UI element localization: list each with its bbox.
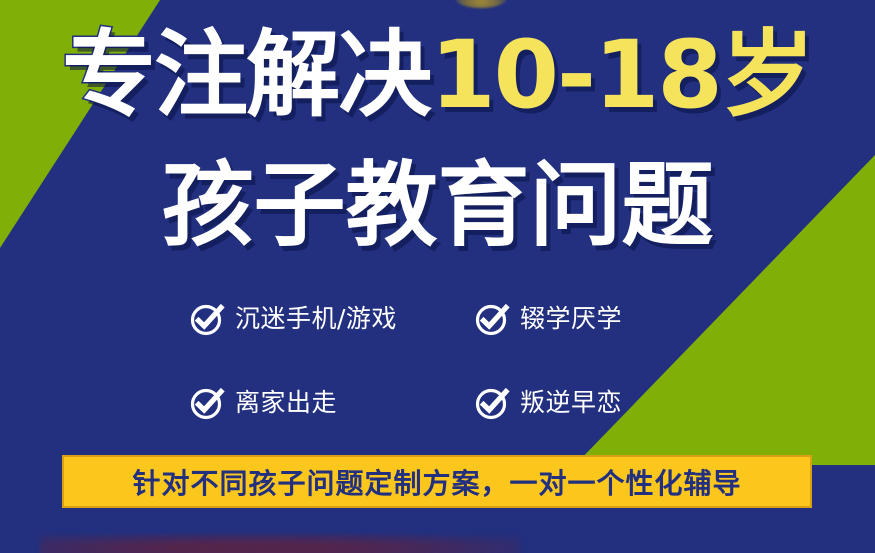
- checklist-item-dropout-school-aversion[interactable]: 辍学厌学: [475, 302, 690, 336]
- checklist-item-label: 叛逆早恋: [520, 388, 622, 418]
- checklist-item-running-away[interactable]: 离家出走: [190, 386, 475, 420]
- cta-banner[interactable]: 针对不同孩子问题定制方案，一对一个性化辅导: [62, 455, 812, 508]
- headline-line-1: 专注解决10-18岁: [0, 22, 875, 130]
- checklist-item-rebellion-early-romance[interactable]: 叛逆早恋: [475, 386, 690, 420]
- checklist-row: 离家出走 叛逆早恋: [190, 372, 690, 434]
- checklist-item-label: 辍学厌学: [520, 304, 622, 334]
- checklist-item-phone-game-addiction[interactable]: 沉迷手机/游戏: [190, 302, 475, 336]
- check-circle-icon: [475, 302, 509, 336]
- checklist-row: 沉迷手机/游戏 辍学厌学: [190, 288, 690, 350]
- check-circle-icon: [475, 386, 509, 420]
- cta-banner-text: 针对不同孩子问题定制方案，一对一个性化辅导: [132, 462, 741, 502]
- decorative-top-nub: [455, 0, 507, 8]
- check-circle-icon: [190, 386, 224, 420]
- promo-poster: 专注解决10-18岁 孩子教育问题 沉迷手机/游戏: [0, 0, 875, 553]
- headline-line-1-age-range: 10-18岁: [430, 21, 813, 130]
- decorative-bottom-smudge: [40, 535, 520, 553]
- problem-checklist: 沉迷手机/游戏 辍学厌学: [190, 288, 690, 434]
- headline-line-1-cn: 专注解决: [62, 21, 430, 130]
- headline-line-2: 孩子教育问题: [0, 152, 875, 260]
- checklist-item-label: 沉迷手机/游戏: [235, 304, 397, 334]
- check-circle-icon: [190, 302, 224, 336]
- checklist-item-label: 离家出走: [235, 388, 337, 418]
